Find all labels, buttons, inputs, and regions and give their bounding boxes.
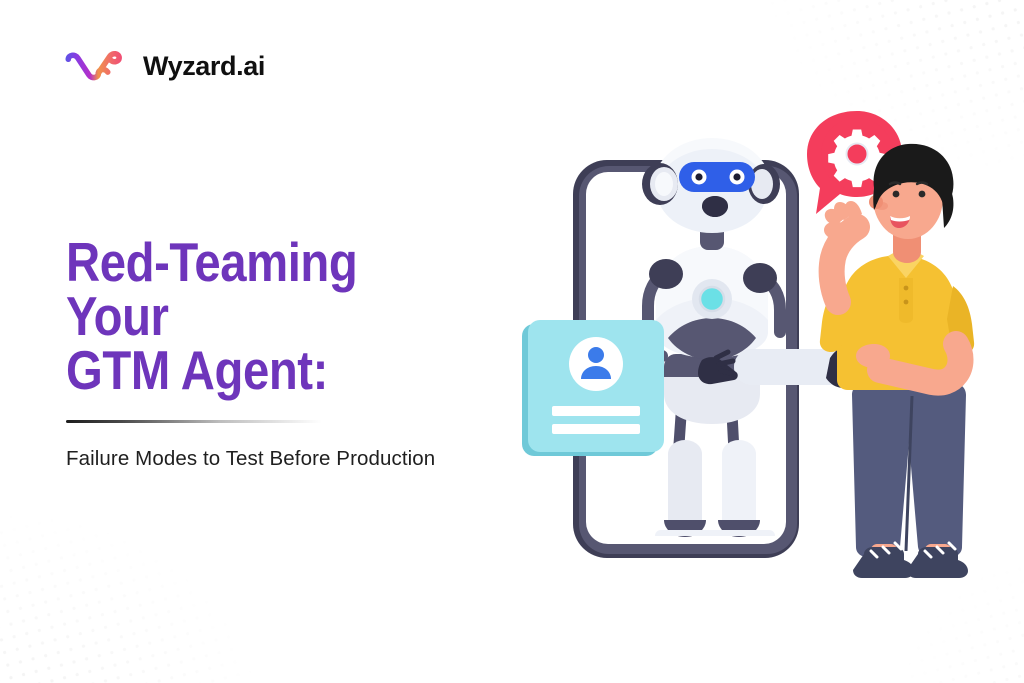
profile-card (522, 320, 664, 456)
page-subtitle: Failure Modes to Test Before Production (66, 446, 496, 472)
brand-logo[interactable]: Wyzard.ai (62, 44, 265, 88)
page-title: Red-Teaming Your GTM Agent: (66, 236, 436, 398)
title-divider (66, 420, 322, 423)
wyzard-wave-w-logo-icon (62, 44, 132, 88)
hero-illustration (516, 96, 1016, 606)
person-standing (820, 144, 974, 578)
hero-copy: Red-Teaming Your GTM Agent: Failure Mode… (66, 236, 496, 471)
blog-banner: Wyzard.ai Red-Teaming Your GTM Agent: Fa… (0, 0, 1024, 683)
brand-name: Wyzard.ai (143, 53, 265, 80)
